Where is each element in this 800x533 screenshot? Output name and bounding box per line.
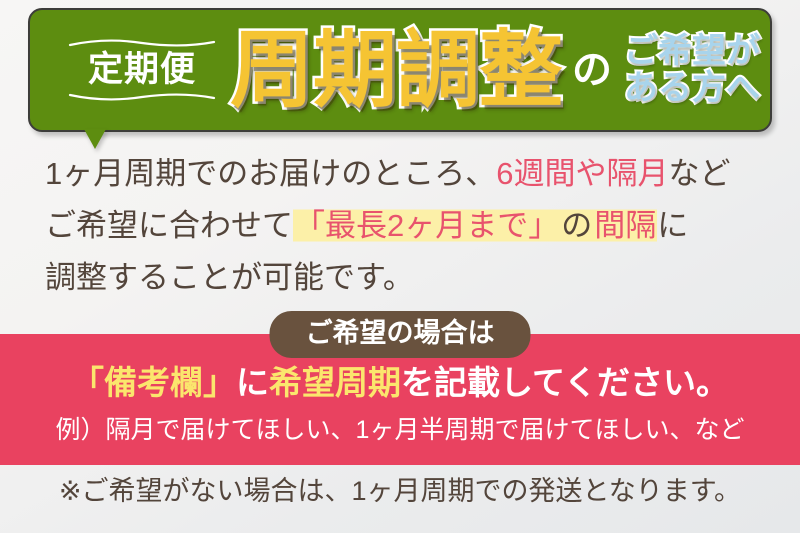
instruction-particle-ni: に	[236, 364, 269, 401]
header-callout: 定期便 周期調整 の ご希望が ある方へ	[28, 8, 772, 132]
instruction-main-line: 「備考欄」に希望周期を記載してください。	[0, 366, 800, 399]
header-target-audience: ご希望が ある方へ	[624, 33, 760, 106]
header-target-line-1: ご希望が	[624, 33, 760, 70]
promo-banner: 定期便 周期調整 の ご希望が ある方へ 1ヶ月周期でのお届けのところ、6週間や…	[0, 0, 800, 533]
description-line-2-part-a: ご希望に合わせて	[45, 208, 293, 243]
instruction-main-tail: を記載してください。	[401, 364, 729, 401]
description-line-1: 1ヶ月周期でのお届けのところ、6週間や隔月など	[45, 148, 765, 200]
callout-tail-icon	[84, 129, 106, 149]
description-line-2-highlight-accent: 「最長2ヶ月まで」	[293, 208, 560, 243]
description-line-2-part-e: に	[657, 208, 688, 243]
description-line-1-part-a: 1ヶ月周期でのお届けのところ、	[45, 156, 496, 191]
instruction-field-name: 「備考欄」	[71, 364, 236, 401]
subscription-badge-label: 定期便	[68, 51, 216, 90]
header-connector-particle: の	[572, 50, 612, 90]
instruction-example-line: 例）隔月で届けてほしい、1ヶ月半周期で届けてほしい、など	[0, 418, 800, 443]
footnote-text: ※ご希望がない場合は、1ヶ月周期での発送となります。	[0, 478, 800, 505]
description-line-1-accent: 6週間や隔月	[496, 156, 668, 191]
instruction-desired-cycle: 希望周期	[269, 364, 401, 401]
section-label-pill: ご希望の場合は	[270, 311, 531, 358]
wavy-rule-top-icon	[68, 39, 216, 48]
description-paragraph: 1ヶ月周期でのお届けのところ、6週間や隔月など ご希望に合わせて「最長2ヶ月まで…	[45, 148, 765, 304]
description-line-2: ご希望に合わせて「最長2ヶ月まで」の間隔に	[45, 200, 765, 252]
description-line-2-highlight-particle: の	[560, 208, 593, 243]
header-target-line-2: ある方へ	[624, 70, 760, 107]
subscription-badge: 定期便	[68, 39, 216, 102]
wavy-rule-bottom-icon	[68, 92, 216, 101]
description-line-3: 調整することが可能です。	[45, 252, 765, 304]
description-line-1-part-c: など	[669, 156, 731, 191]
header-main-title: 周期調整	[230, 28, 562, 112]
description-line-2-highlight-accent-2: 間隔	[593, 208, 657, 243]
header-green-box: 定期便 周期調整 の ご希望が ある方へ	[28, 8, 772, 132]
